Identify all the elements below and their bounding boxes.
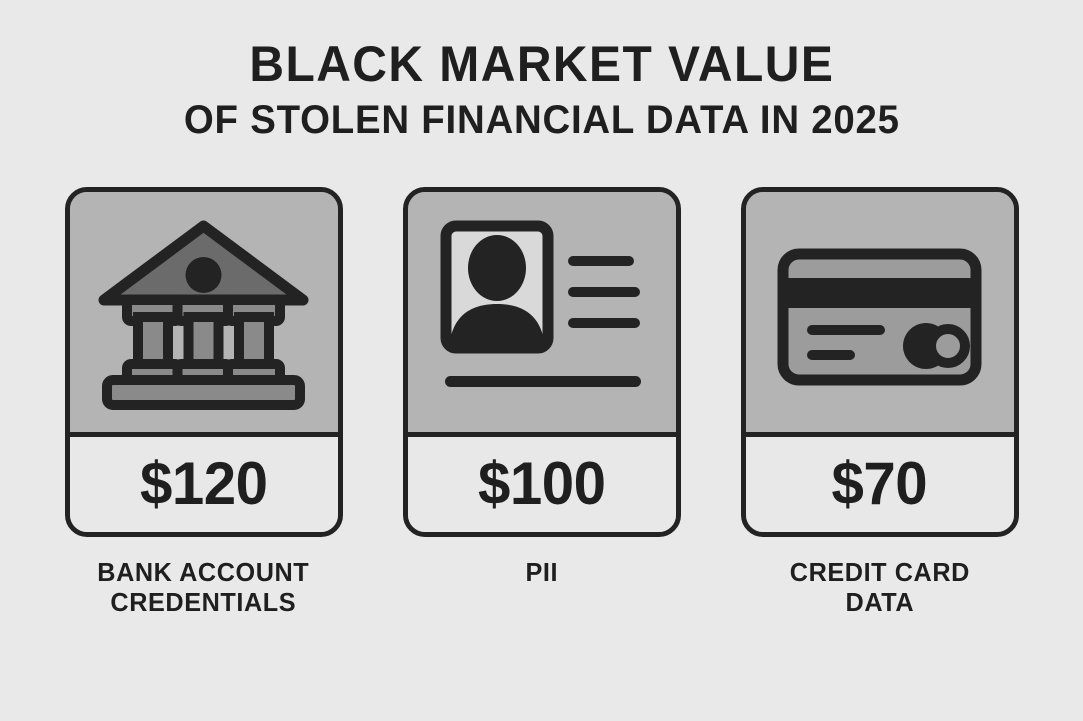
person-head: [468, 235, 526, 301]
card-price-panel: $120: [70, 437, 338, 532]
card-icon-panel: [408, 192, 676, 437]
price-value: $70: [832, 454, 928, 514]
title-line-primary: BLACK MARKET VALUE: [184, 38, 900, 91]
card-price-panel: $70: [746, 437, 1014, 532]
bank-base-platform: [107, 380, 300, 405]
card-frame: $70: [741, 187, 1019, 537]
infographic-root: BLACK MARKET VALUE OF STOLEN FINANCIAL D…: [0, 0, 1083, 721]
bank-pediment-medallion: [186, 257, 222, 293]
card-price-panel: $100: [408, 437, 676, 532]
credit-card-magnetic-stripe: [777, 278, 982, 308]
value-cards-row: $120 BANK ACCOUNT CREDENTIALS: [59, 187, 1025, 618]
card-caption: CREDIT CARD DATA: [789, 557, 969, 618]
credit-card-name-line: [807, 350, 855, 360]
value-card-credit-card-data: $70 CREDIT CARD DATA: [735, 187, 1025, 618]
bank-icon: [91, 212, 316, 412]
page-title: BLACK MARKET VALUE OF STOLEN FINANCIAL D…: [169, 38, 915, 145]
value-card-pii: $100 PII: [397, 187, 687, 588]
id-text-line-3: [568, 318, 640, 328]
id-text-line-2: [568, 287, 640, 297]
card-caption: PII: [525, 557, 558, 588]
price-value: $100: [478, 454, 606, 514]
value-card-bank-account-credentials: $120 BANK ACCOUNT CREDENTIALS: [59, 187, 349, 618]
card-icon-panel: [70, 192, 338, 437]
title-line-secondary: OF STOLEN FINANCIAL DATA IN 2025: [184, 95, 900, 145]
card-frame: $120: [65, 187, 343, 537]
id-text-line-1: [568, 256, 634, 266]
card-icon-panel: [746, 192, 1014, 437]
card-caption: BANK ACCOUNT CREDENTIALS: [97, 557, 309, 618]
id-bottom-line: [445, 376, 641, 387]
price-value: $120: [140, 454, 268, 514]
credit-card-icon: [767, 212, 992, 412]
credit-card-number-line: [807, 325, 885, 335]
card-frame: $100: [403, 187, 681, 537]
id-card-icon: [429, 212, 654, 412]
credit-card-logo-circle-ring: [931, 329, 965, 363]
